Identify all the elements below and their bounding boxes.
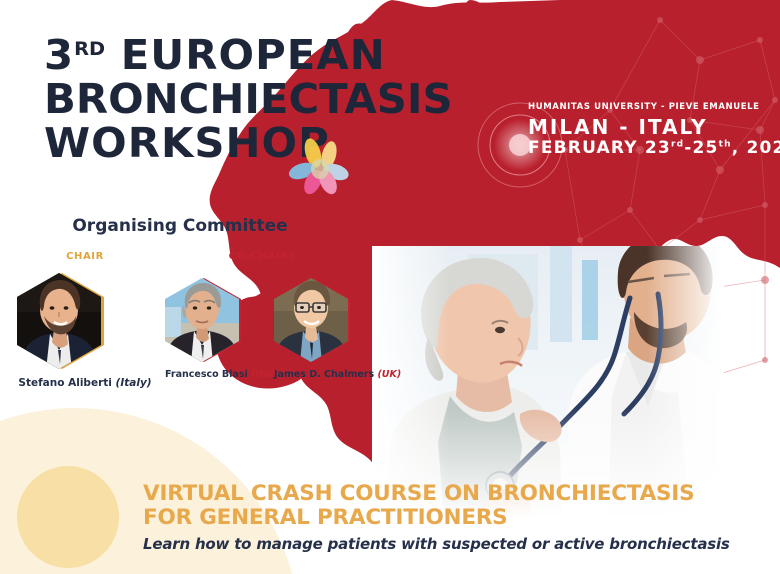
member-name-text: Francesco Blasi bbox=[165, 369, 248, 380]
committee-member-cochair-1: Francesco Blasi (Italy) bbox=[165, 277, 283, 380]
role-label-chair: CHAIR bbox=[20, 251, 150, 262]
date-suffix: , 2023 bbox=[732, 138, 780, 158]
committee-member-chair: Stefano Aliberti (Italy) bbox=[17, 272, 153, 389]
course-block: VIRTUAL CRASH COURSE ON BRONCHIECTASIS F… bbox=[143, 482, 773, 553]
date-sup-1: rd bbox=[671, 139, 684, 149]
member-name: James D. Chalmers (UK) bbox=[274, 369, 392, 380]
member-photo-hexagon bbox=[274, 277, 392, 363]
member-country: (UK) bbox=[377, 369, 401, 380]
bronchiectasis-flower-logo-icon bbox=[288, 136, 350, 196]
poster-title: 3RD EUROPEAN BRONCHIECTASIS WORKSHOP bbox=[44, 36, 424, 163]
venue-university: HUMANITAS UNIVERSITY - PIEVE EMANUELE bbox=[528, 102, 768, 112]
doctor-patient-photo bbox=[372, 246, 724, 518]
title-ordinal-suffix: RD bbox=[74, 38, 105, 60]
member-name: Stefano Aliberti (Italy) bbox=[17, 377, 153, 389]
title-line-2: BRONCHIECTASIS bbox=[44, 80, 432, 119]
date-mid: -25 bbox=[684, 138, 718, 158]
title-line-1: 3RD EUROPEAN bbox=[44, 36, 432, 75]
conference-poster: 3RD EUROPEAN BRONCHIECTASIS WORKSHOP HUM… bbox=[0, 0, 780, 574]
member-photo-hexagon bbox=[165, 277, 283, 363]
venue-date: FEBRUARY 23rd-25th, 2023 bbox=[528, 139, 768, 158]
title-line-3: WORKSHOP bbox=[44, 124, 432, 163]
venue-city: MILAN - ITALY bbox=[528, 117, 768, 138]
title-ordinal: 3 bbox=[44, 31, 74, 79]
date-sup-2: th bbox=[719, 139, 732, 149]
course-subtitle: Learn how to manage patients with suspec… bbox=[143, 535, 773, 553]
date-prefix: FEBRUARY 23 bbox=[528, 138, 671, 158]
committee-member-cochair-2: James D. Chalmers (UK) bbox=[274, 277, 392, 380]
member-name-text: James D. Chalmers bbox=[274, 369, 374, 380]
member-name: Francesco Blasi (Italy) bbox=[165, 369, 283, 380]
venue-info: HUMANITAS UNIVERSITY - PIEVE EMANUELE MI… bbox=[528, 102, 768, 158]
title-line-1-rest: EUROPEAN bbox=[121, 31, 386, 79]
member-name-text: Stefano Aliberti bbox=[18, 377, 111, 389]
committee-heading: Organising Committee bbox=[0, 216, 360, 236]
member-country: (Italy) bbox=[116, 377, 152, 389]
cream-accent-circle bbox=[17, 466, 119, 568]
member-photo-hexagon bbox=[17, 272, 153, 370]
role-label-cochairs: CO-CHAIRS bbox=[175, 251, 350, 262]
course-title: VIRTUAL CRASH COURSE ON BRONCHIECTASIS F… bbox=[143, 482, 733, 529]
